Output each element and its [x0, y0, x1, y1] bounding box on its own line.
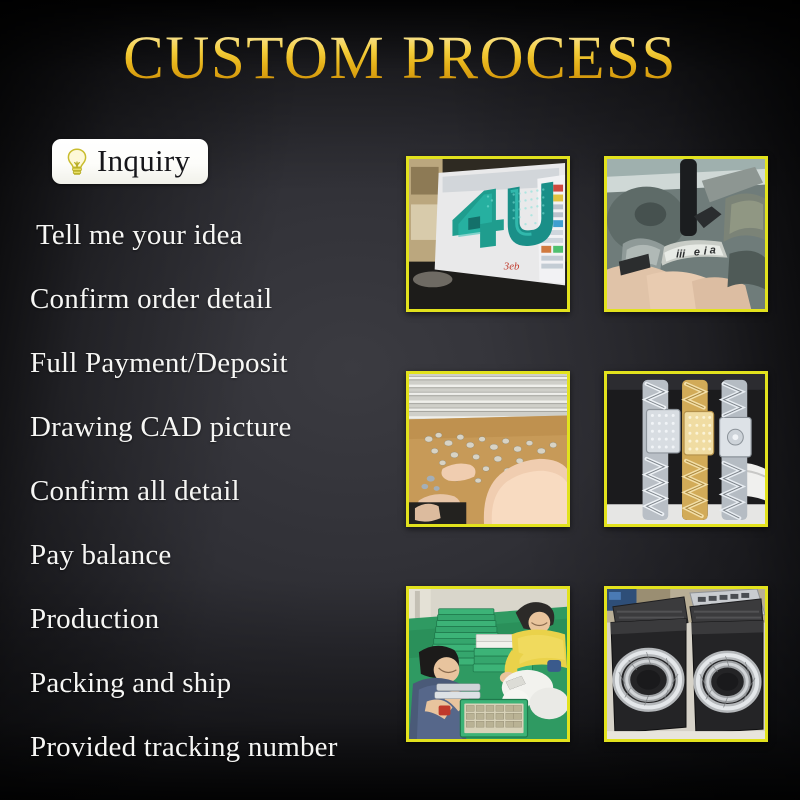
process-step: Production	[30, 587, 400, 651]
inquiry-label: Inquiry	[97, 145, 190, 179]
process-step: Provided tracking number	[30, 715, 400, 779]
photo-jewelry-bench-work: iii e i a	[604, 156, 768, 312]
svg-text:a: a	[710, 245, 716, 257]
process-step: Pay balance	[30, 523, 400, 587]
photo-stone-sorting-table	[406, 371, 570, 527]
process-photo-grid: 3eb iii e i a	[406, 156, 768, 742]
custom-process-poster: CUSTOM PROCESS Inquiry Tell me your idea…	[0, 0, 800, 800]
photo-packing-workshop	[406, 586, 570, 742]
photo-boxed-chains-ready-to-ship	[604, 586, 768, 742]
svg-text:iii: iii	[676, 249, 686, 261]
process-step: Confirm order detail	[30, 267, 400, 331]
photo-cad-design-monitor: 3eb	[406, 156, 570, 312]
process-step-list: Tell me your idea Confirm order detail F…	[30, 203, 400, 779]
inquiry-badge[interactable]: Inquiry	[52, 139, 208, 184]
page-title: CUSTOM PROCESS	[0, 26, 800, 92]
process-step: Tell me your idea	[30, 203, 400, 267]
process-step: Confirm all detail	[30, 459, 400, 523]
svg-text:3eb: 3eb	[503, 261, 520, 273]
svg-text:e: e	[694, 247, 700, 259]
process-step: Drawing CAD picture	[30, 395, 400, 459]
photo-finished-cuban-bracelets	[604, 371, 768, 527]
process-step: Full Payment/Deposit	[30, 331, 400, 395]
lightbulb-icon	[64, 147, 90, 177]
process-step: Packing and ship	[30, 651, 400, 715]
